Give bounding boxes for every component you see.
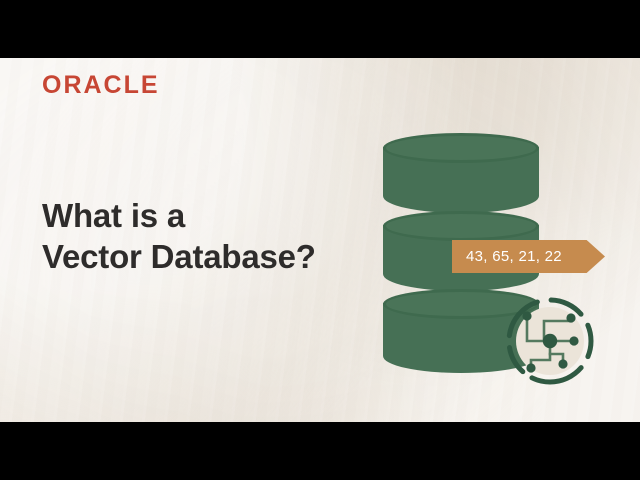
database-segment-cap <box>383 211 539 241</box>
circuit-node-2 <box>566 313 575 322</box>
database-segment-cap <box>383 133 539 163</box>
vector-values-banner: 43, 65, 21, 22 <box>452 240 605 273</box>
circuit-node-3 <box>569 336 578 345</box>
page-title-line-1: What is a <box>42 196 316 237</box>
database-segment-cap-inner <box>386 214 536 238</box>
circuit-node-5 <box>558 359 567 368</box>
circuit-node-4 <box>526 363 535 372</box>
page-title-line-2: Vector Database? <box>42 237 316 278</box>
vector-network-icon <box>505 296 595 386</box>
oracle-logo: ORACLE <box>42 73 160 98</box>
vector-values-label: 43, 65, 21, 22 <box>466 240 562 273</box>
letterbox-bar-bottom <box>0 422 640 480</box>
video-slide-frame: ORACLE What is a Vector Database? 43 <box>0 0 640 480</box>
database-segment-cap-inner <box>386 136 536 160</box>
circuit-node-1 <box>522 311 531 320</box>
letterbox-bar-top <box>0 0 640 58</box>
circuit-node-hub <box>543 334 557 348</box>
page-title: What is a Vector Database? <box>42 196 316 277</box>
database-segment-top <box>383 133 539 215</box>
